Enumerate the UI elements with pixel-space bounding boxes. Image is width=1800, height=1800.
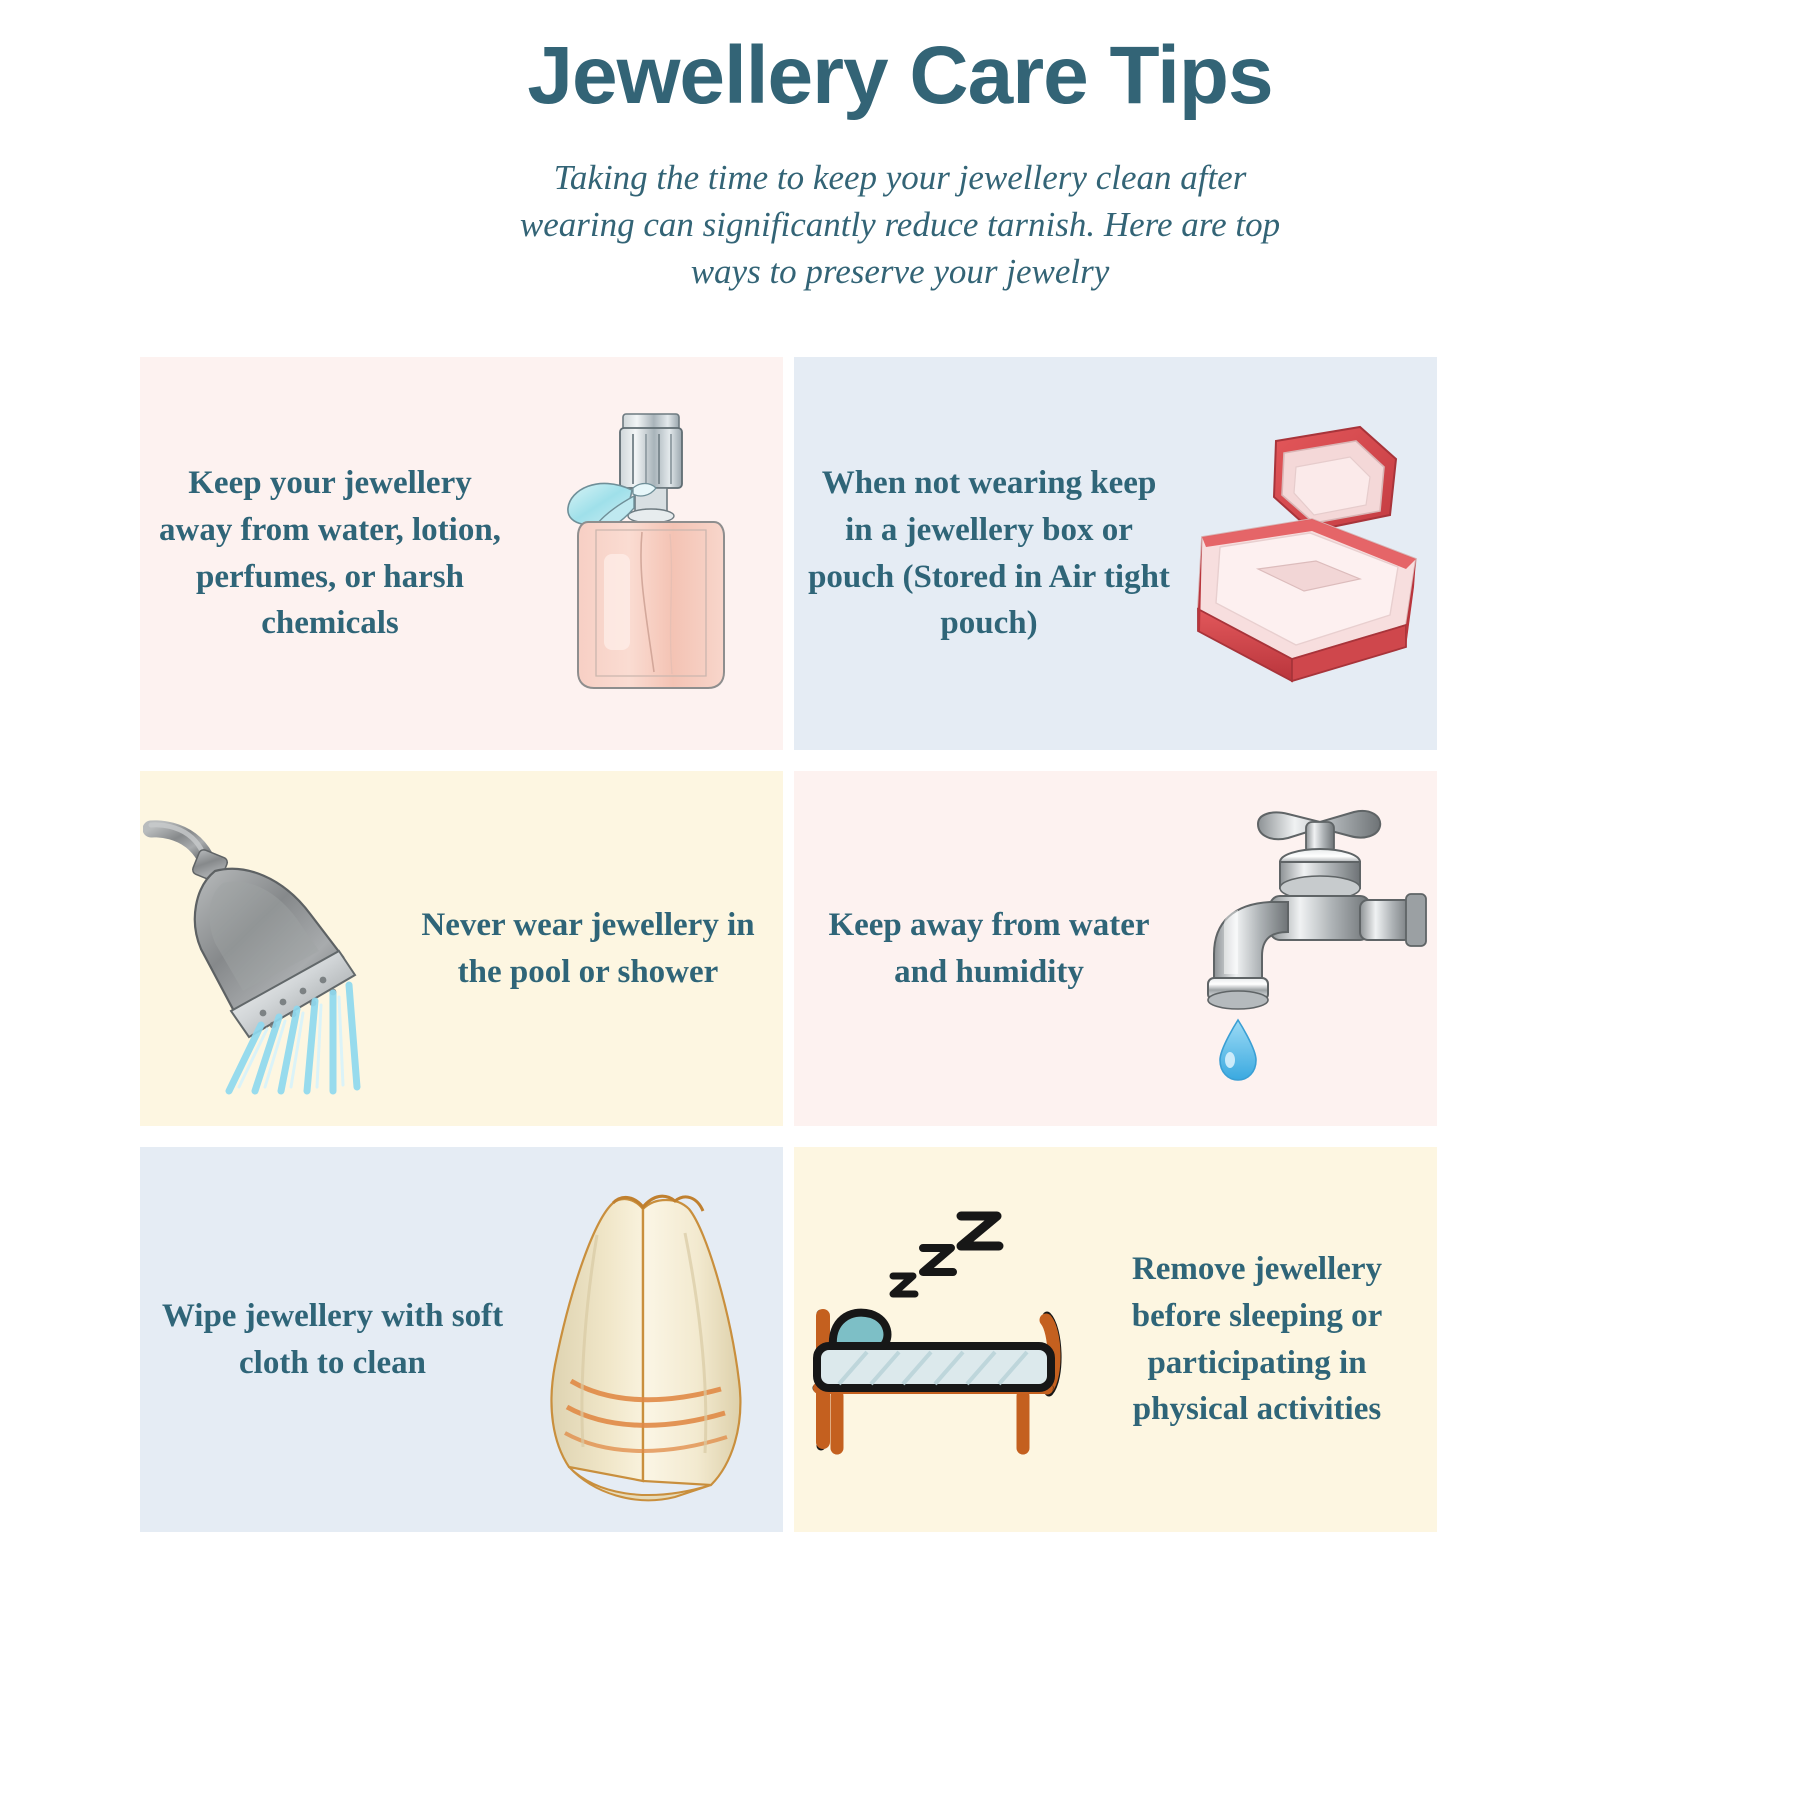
tip-card-remove-before-sleep: Remove jewellery before sleeping or part… <box>794 1147 1437 1532</box>
tip-card-text: Keep your jewellery away from water, lot… <box>140 460 520 647</box>
tips-grid: Keep your jewellery away from water, lot… <box>140 357 1435 1532</box>
shower-head-icon <box>143 799 393 1099</box>
header: Jewellery Care Tips Taking the time to k… <box>0 0 1800 296</box>
cloth-icon <box>525 1175 775 1505</box>
tip-card-text: Wipe jewellery with soft cloth to clean <box>140 1293 525 1387</box>
tip-card-text: Never wear jewellery in the pool or show… <box>393 902 783 996</box>
tip-card-wipe-with-cloth: Wipe jewellery with soft cloth to clean <box>140 1147 783 1532</box>
tip-card-avoid-chemicals: Keep your jewellery away from water, lot… <box>140 357 783 750</box>
faucet-icon <box>1184 804 1434 1094</box>
jewellery-box-icon <box>1184 419 1434 689</box>
tip-card-no-pool-or-shower: Never wear jewellery in the pool or show… <box>140 771 783 1126</box>
bed-sleeping-icon <box>797 1210 1077 1470</box>
tip-card-text: Remove jewellery before sleeping or part… <box>1077 1246 1437 1433</box>
tip-card-store-in-box: When not wearing keep in a jewellery box… <box>794 357 1437 750</box>
tip-card-text: Keep away from water and humidity <box>794 902 1184 996</box>
tip-card-avoid-humidity: Keep away from water and humidity <box>794 771 1437 1126</box>
perfume-bottle-icon <box>520 404 782 704</box>
infographic-page: Jewellery Care Tips Taking the time to k… <box>0 0 1800 1800</box>
tip-card-text: When not wearing keep in a jewellery box… <box>794 460 1184 647</box>
page-subtitle: Taking the time to keep your jewellery c… <box>505 122 1295 296</box>
page-title: Jewellery Care Tips <box>0 0 1800 122</box>
